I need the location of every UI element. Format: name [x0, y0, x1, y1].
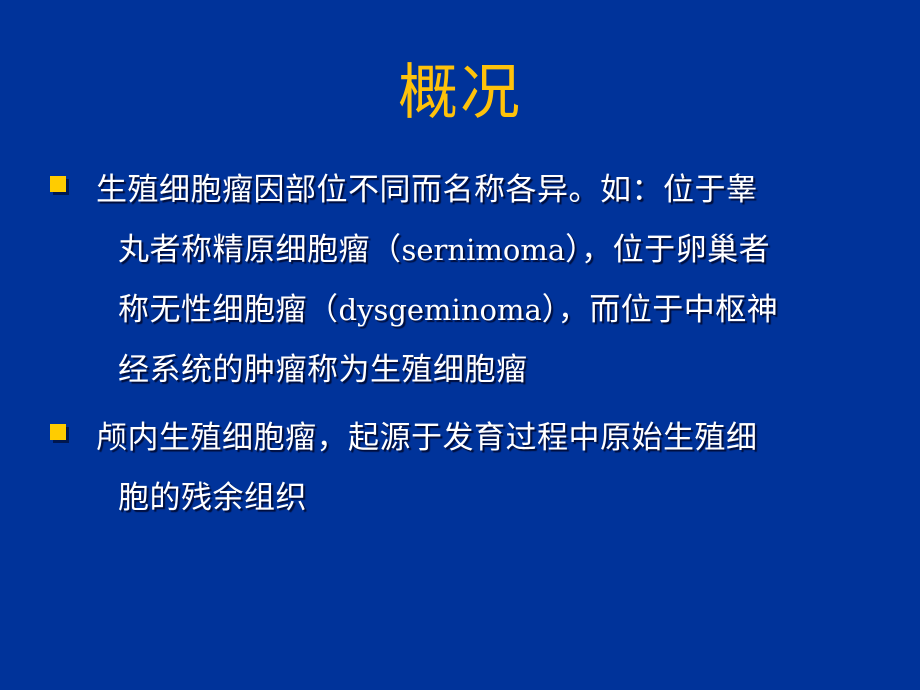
bullet-1-line-2-text-b: ），位于卵巢者: [565, 232, 770, 268]
list-item: 颅内生殖细胞瘤，起源于发育过程中原始生殖细 胞的残余组织: [44, 408, 880, 528]
list-item-text: 生殖细胞瘤因部位不同而名称各异。如：位于睾 丸者称精原细胞瘤（sernimoma…: [96, 160, 880, 400]
list-item: 生殖细胞瘤因部位不同而名称各异。如：位于睾 丸者称精原细胞瘤（sernimoma…: [44, 160, 880, 400]
bullet-1-line-1: 生殖细胞瘤因部位不同而名称各异。如：位于睾: [96, 160, 880, 220]
bullet-1-line-4: 经系统的肿瘤称为生殖细胞瘤: [96, 340, 880, 400]
list-item-text: 颅内生殖细胞瘤，起源于发育过程中原始生殖细 胞的残余组织: [96, 408, 880, 528]
bullet-1-line-2-text-a: 丸者称精原细胞瘤（: [118, 232, 402, 268]
bullet-2-line-1: 颅内生殖细胞瘤，起源于发育过程中原始生殖细: [96, 408, 880, 468]
bullet-2-line-2: 胞的残余组织: [96, 468, 880, 528]
bullet-square-icon: [50, 424, 66, 440]
page-title: 概况: [0, 58, 920, 128]
bullet-1-line-2-latin: sernimoma: [402, 233, 566, 267]
bullet-1-line-3-text-b: ），而位于中枢神: [542, 292, 779, 328]
slide: 概况 生殖细胞瘤因部位不同而名称各异。如：位于睾 丸者称精原细胞瘤（sernim…: [0, 0, 920, 690]
bullet-list: 生殖细胞瘤因部位不同而名称各异。如：位于睾 丸者称精原细胞瘤（sernimoma…: [44, 160, 880, 536]
bullet-1-line-3-latin: dysgeminoma: [339, 293, 542, 327]
bullet-1-line-3-text-a: 称无性细胞瘤（: [118, 292, 339, 328]
bullet-square-icon: [50, 176, 66, 192]
bullet-1-line-3: 称无性细胞瘤（dysgeminoma），而位于中枢神: [96, 280, 880, 340]
bullet-1-line-2: 丸者称精原细胞瘤（sernimoma），位于卵巢者: [96, 220, 880, 280]
